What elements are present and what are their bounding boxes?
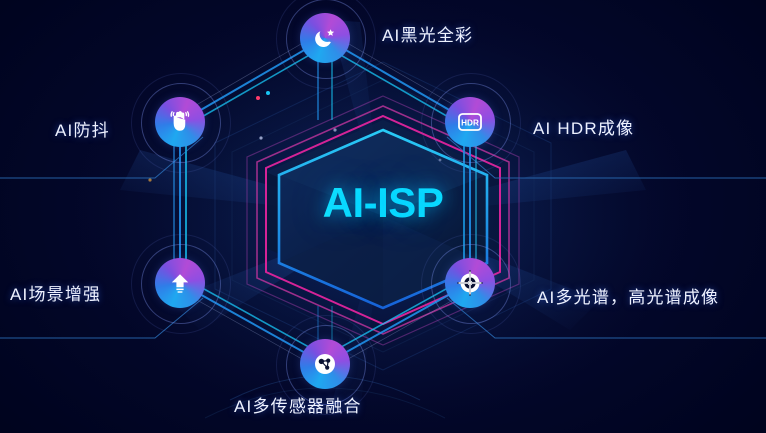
node-black-light[interactable]: [302, 15, 348, 61]
arrow-up-boost-icon: [168, 271, 192, 295]
node-anti-shake[interactable]: [157, 99, 203, 145]
moon-star-icon: [312, 25, 338, 51]
hand-shake-icon: [166, 109, 194, 135]
crosshair-icon: [457, 270, 483, 296]
label-hdr: AI HDR成像: [533, 114, 634, 139]
node-sensor-fusion[interactable]: [302, 341, 348, 387]
nodes-network-icon: [313, 352, 337, 376]
node-scene-enhance[interactable]: [157, 260, 203, 306]
label-black-light: AI黑光全彩: [382, 21, 473, 46]
svg-text:HDR: HDR: [461, 118, 479, 127]
node-multispectral[interactable]: [447, 260, 493, 306]
hdr-badge-icon: HDR: [456, 110, 484, 134]
label-multispectral: AI多光谱，高光谱成像: [537, 283, 719, 308]
label-sensor-fusion: AI多传感器融合: [234, 392, 362, 417]
node-hdr[interactable]: HDR: [447, 99, 493, 145]
center-title: AI-ISP: [0, 179, 766, 227]
label-scene-enhance: AI场景增强: [10, 280, 101, 305]
ai-isp-infographic: HDR: [0, 0, 766, 433]
label-anti-shake: AI防抖: [55, 116, 110, 141]
